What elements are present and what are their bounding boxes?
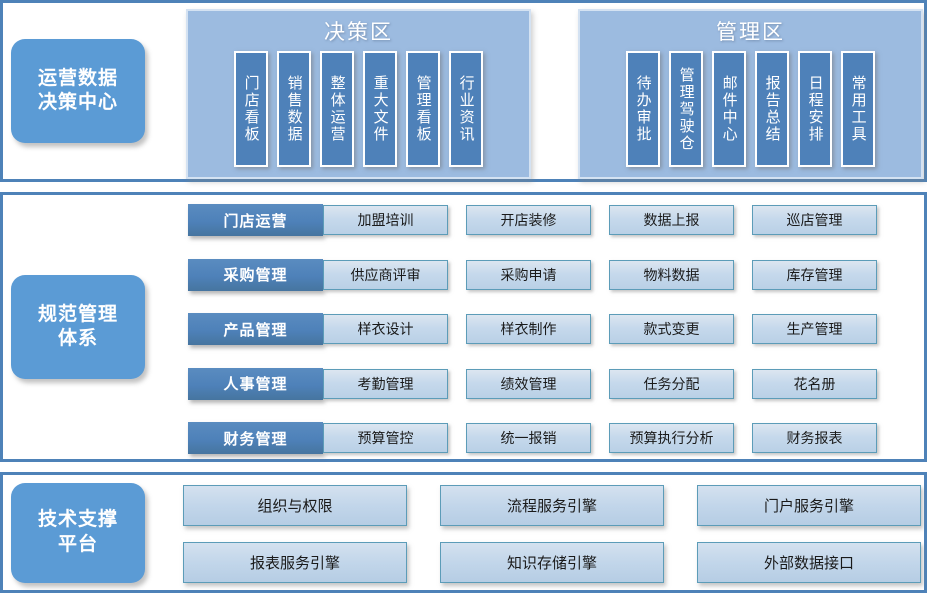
table-row: 采购管理 供应商评审 采购申请 物料数据 库存管理	[188, 258, 918, 292]
row-label-finance-management[interactable]: 财务管理	[188, 422, 323, 454]
table-row: 产品管理 样衣设计 样衣制作 款式变更 生产管理	[188, 312, 918, 346]
pillar-standard-management-system: 规范管理 体系	[11, 275, 145, 379]
card-unified-reimbursement[interactable]: 统一报销	[466, 423, 591, 453]
middle-grid: 门店运营 加盟培训 开店装修 数据上报 巡店管理 采购管理 供应商评审 采购申请…	[188, 203, 918, 455]
list-item: 组织与权限 流程服务引擎 门户服务引擎	[183, 485, 921, 526]
row-label-store-operations[interactable]: 门店运营	[188, 204, 323, 236]
row-label-product-management[interactable]: 产品管理	[188, 313, 323, 345]
card-budget-execution-analysis[interactable]: 预算执行分析	[609, 423, 734, 453]
card-task-assignment[interactable]: 任务分配	[609, 369, 734, 399]
top-section: 运营数据 决策中心 决策区 门店看板 销售数据 整体运营 重大文件 管理看板 行…	[0, 0, 927, 182]
vcard-report-summary[interactable]: 报告总结	[755, 51, 789, 167]
vcard-management-cockpit[interactable]: 管理驾驶仓	[669, 51, 703, 167]
pillar-line-2: 决策中心	[38, 91, 118, 115]
card-store-inspection-management[interactable]: 巡店管理	[752, 205, 877, 235]
middle-section: 规范管理 体系 门店运营 加盟培训 开店装修 数据上报 巡店管理 采购管理 供应…	[0, 192, 927, 462]
card-performance-management[interactable]: 绩效管理	[466, 369, 591, 399]
card-employee-roster[interactable]: 花名册	[752, 369, 877, 399]
pillar-operations-data-decision-center: 运营数据 决策中心	[11, 39, 145, 143]
vcard-common-tools[interactable]: 常用工具	[841, 51, 875, 167]
zone-decision: 决策区 门店看板 销售数据 整体运营 重大文件 管理看板 行业资讯	[186, 9, 531, 179]
list-item: 报表服务引擎 知识存储引擎 外部数据接口	[183, 542, 921, 583]
vcard-mail-center[interactable]: 邮件中心	[712, 51, 746, 167]
card-portal-service-engine[interactable]: 门户服务引擎	[697, 485, 921, 526]
vcard-store-dashboard[interactable]: 门店看板	[234, 51, 268, 167]
card-data-reporting[interactable]: 数据上报	[609, 205, 734, 235]
pillar-technical-support-platform: 技术支撑 平台	[11, 483, 145, 583]
card-sample-production[interactable]: 样衣制作	[466, 314, 591, 344]
card-report-service-engine[interactable]: 报表服务引擎	[183, 542, 407, 583]
pillar-line-2: 体系	[58, 327, 98, 351]
zone-management-title: 管理区	[716, 16, 785, 46]
bottom-grid: 组织与权限 流程服务引擎 门户服务引擎 报表服务引擎 知识存储引擎 外部数据接口	[183, 485, 921, 583]
card-supplier-review[interactable]: 供应商评审	[323, 260, 448, 290]
card-sample-design[interactable]: 样衣设计	[323, 314, 448, 344]
row-label-procurement-management[interactable]: 采购管理	[188, 259, 323, 291]
bottom-section: 技术支撑 平台 组织与权限 流程服务引擎 门户服务引擎 报表服务引擎 知识存储引…	[0, 472, 927, 593]
vcard-pending-approval[interactable]: 待办审批	[626, 51, 660, 167]
zone-decision-cards: 门店看板 销售数据 整体运营 重大文件 管理看板 行业资讯	[224, 51, 493, 177]
vcard-sales-data[interactable]: 销售数据	[277, 51, 311, 167]
card-production-management[interactable]: 生产管理	[752, 314, 877, 344]
card-external-data-interface[interactable]: 外部数据接口	[697, 542, 921, 583]
card-purchase-request[interactable]: 采购申请	[466, 260, 591, 290]
vcard-industry-news[interactable]: 行业资讯	[449, 51, 483, 167]
card-store-opening-decoration[interactable]: 开店装修	[466, 205, 591, 235]
card-franchise-training[interactable]: 加盟培训	[323, 205, 448, 235]
pillar-line-1: 技术支撑	[38, 508, 118, 532]
pillar-line-1: 规范管理	[38, 303, 118, 327]
vcard-management-dashboard[interactable]: 管理看板	[406, 51, 440, 167]
pillar-line-2: 平台	[58, 533, 98, 557]
zone-management: 管理区 待办审批 管理驾驶仓 邮件中心 报告总结 日程安排 常用工具	[578, 9, 923, 179]
zone-decision-title: 决策区	[324, 16, 393, 46]
card-style-change[interactable]: 款式变更	[609, 314, 734, 344]
zone-management-cards: 待办审批 管理驾驶仓 邮件中心 报告总结 日程安排 常用工具	[616, 51, 885, 177]
vcard-overall-operations[interactable]: 整体运营	[320, 51, 354, 167]
card-financial-statements[interactable]: 财务报表	[752, 423, 877, 453]
card-organization-permissions[interactable]: 组织与权限	[183, 485, 407, 526]
table-row: 人事管理 考勤管理 绩效管理 任务分配 花名册	[188, 367, 918, 401]
card-knowledge-storage-engine[interactable]: 知识存储引擎	[440, 542, 664, 583]
card-inventory-management[interactable]: 库存管理	[752, 260, 877, 290]
card-budget-control[interactable]: 预算管控	[323, 423, 448, 453]
card-attendance-management[interactable]: 考勤管理	[323, 369, 448, 399]
card-material-data[interactable]: 物料数据	[609, 260, 734, 290]
pillar-line-1: 运营数据	[38, 67, 118, 91]
table-row: 门店运营 加盟培训 开店装修 数据上报 巡店管理	[188, 203, 918, 237]
table-row: 财务管理 预算管控 统一报销 预算执行分析 财务报表	[188, 421, 918, 455]
card-process-service-engine[interactable]: 流程服务引擎	[440, 485, 664, 526]
vcard-schedule[interactable]: 日程安排	[798, 51, 832, 167]
row-label-hr-management[interactable]: 人事管理	[188, 368, 323, 400]
vcard-major-documents[interactable]: 重大文件	[363, 51, 397, 167]
architecture-diagram: 运营数据 决策中心 决策区 门店看板 销售数据 整体运营 重大文件 管理看板 行…	[0, 0, 927, 595]
